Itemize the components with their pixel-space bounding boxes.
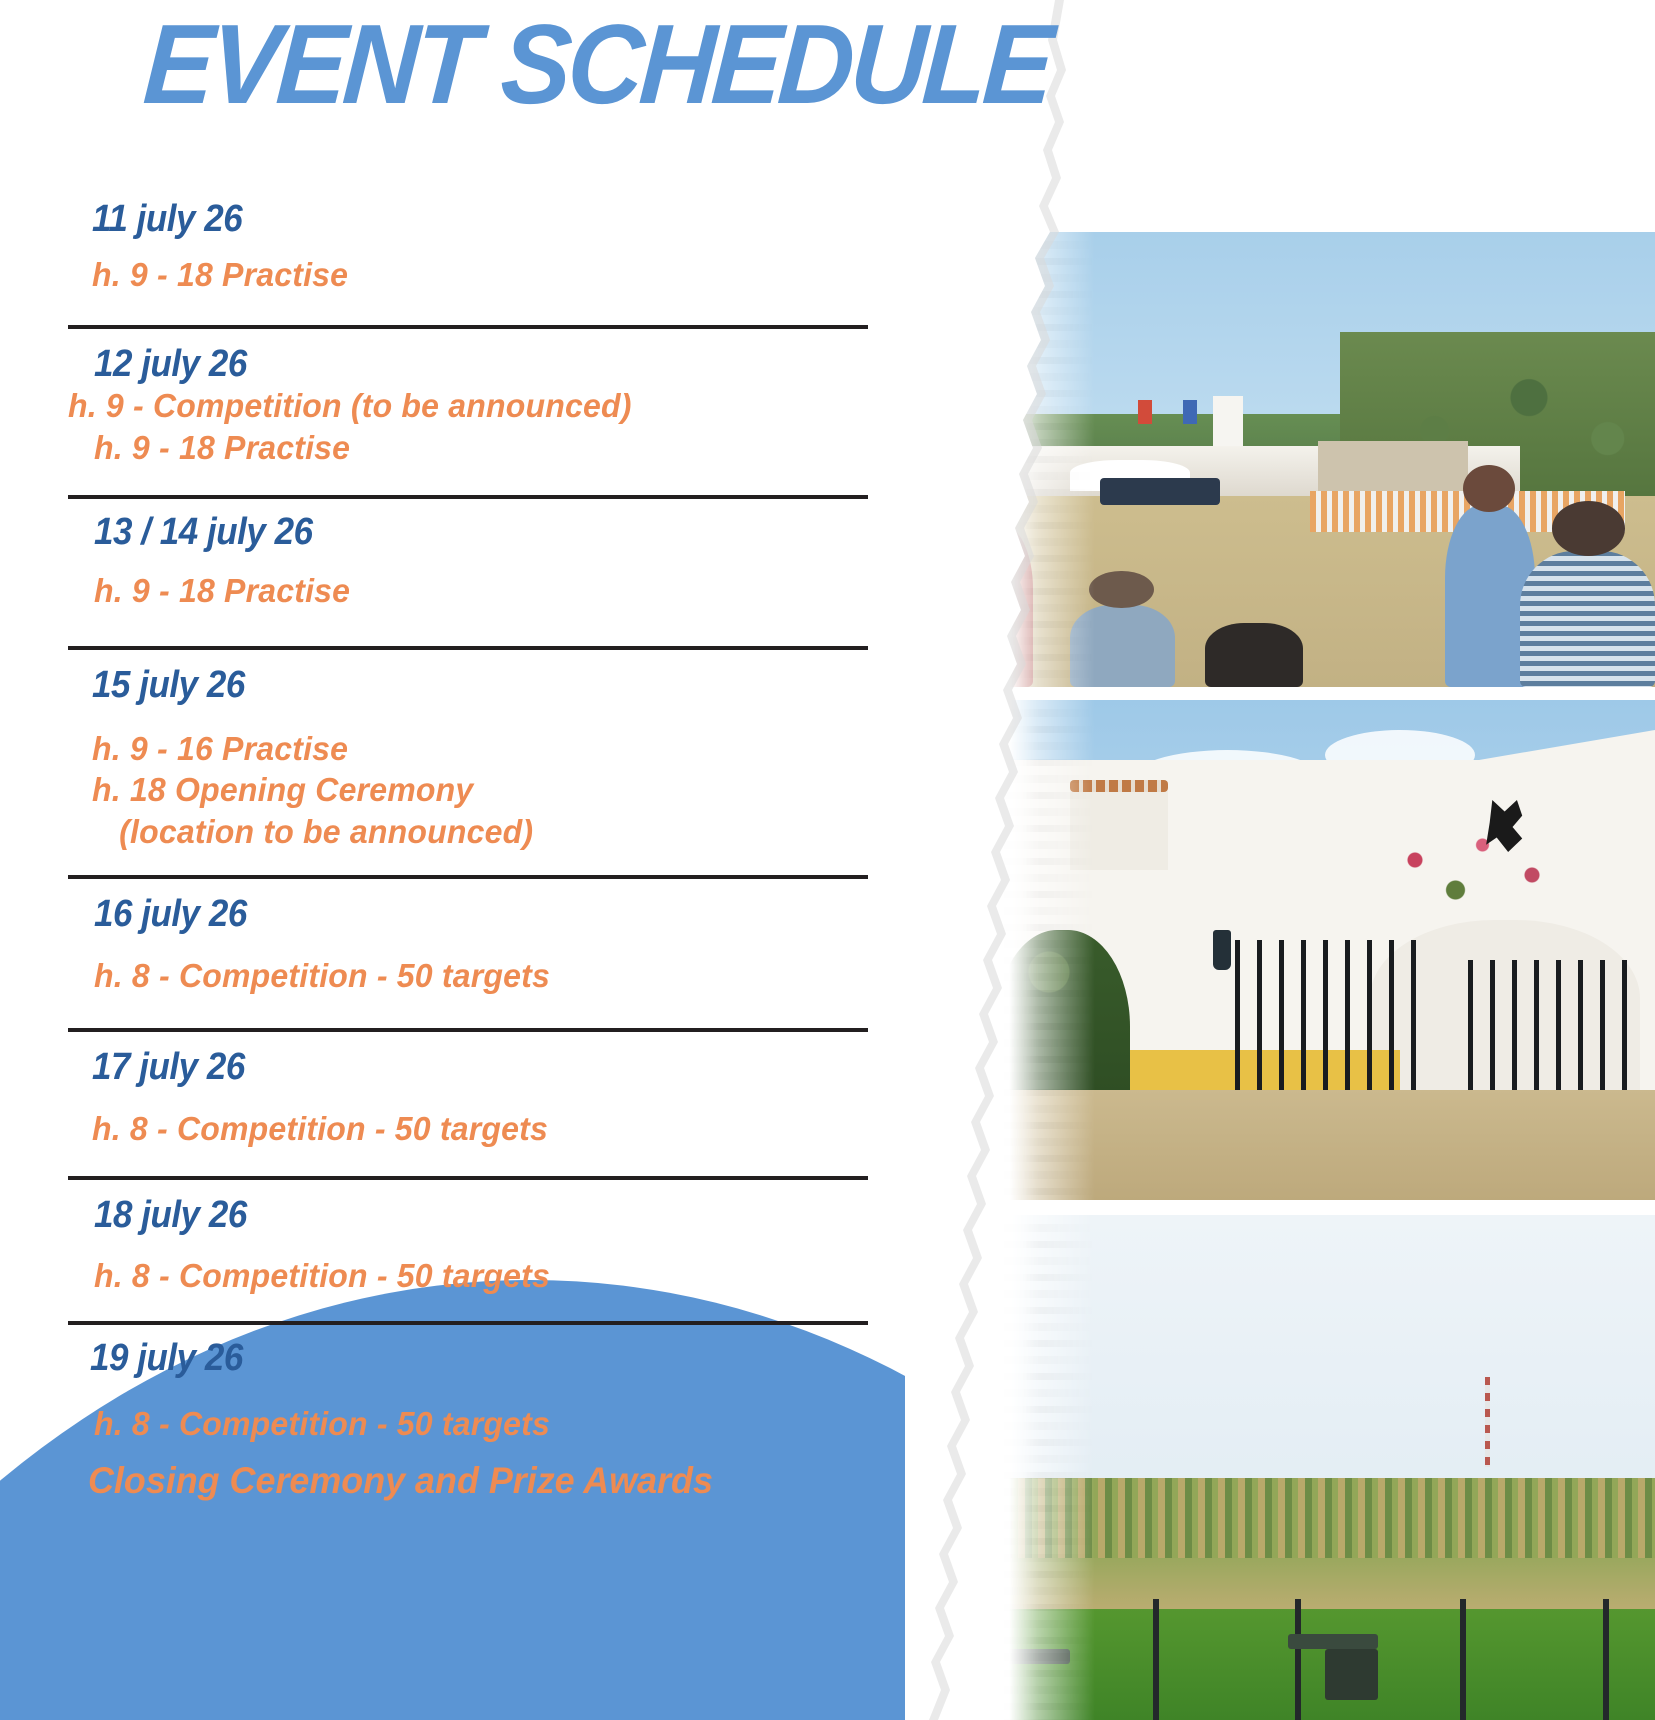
entry-event: h. 9 - 18 Practise: [94, 570, 845, 612]
schedule-entry: 16 july 26 h. 8 - Competition - 50 targe…: [68, 875, 868, 996]
page-title: EVENT SCHEDULE: [141, 8, 1054, 121]
fence-post: [1460, 1599, 1466, 1720]
spectator: [1205, 623, 1303, 687]
entry-date: 17 july 26: [92, 1048, 806, 1088]
entry-event-note: (location to be announced): [92, 811, 845, 853]
entry-event-closing: Closing Ceremony and Prize Awards: [88, 1458, 845, 1505]
schedule-entry: 18 july 26 h. 8 - Competition - 50 targe…: [68, 1176, 868, 1297]
entry-event: h. 9 - 18 Practise: [92, 254, 845, 296]
spectator: [1520, 551, 1655, 688]
entry-event: h. 18 Opening Ceremony: [92, 769, 845, 811]
entry-event: h. 8 - Competition - 50 targets: [94, 955, 845, 997]
schedule-list: 11 july 26 h. 9 - 18 Practise 12 july 26…: [68, 196, 868, 1505]
schedule-entry: 19 july 26 h. 8 - Competition - 50 targe…: [68, 1321, 868, 1505]
entry-event: h. 9 - Competition (to be announced): [68, 385, 844, 427]
wall-lantern: [1213, 930, 1231, 970]
outbuilding: [1318, 441, 1468, 496]
schedule-entry: 12 july 26 h. 9 - Competition (to be ann…: [68, 325, 868, 468]
entry-date: 18 july 26: [94, 1196, 806, 1236]
entry-event: h. 9 - 16 Practise: [92, 728, 845, 770]
entry-date: 13 / 14 july 26: [94, 513, 806, 553]
entry-date: 16 july 26: [94, 895, 806, 935]
climbing-flowers: [1370, 820, 1595, 920]
schedule-entry: 17 july 26 h. 8 - Competition - 50 targe…: [68, 1028, 868, 1149]
entry-event: h. 8 - Competition - 50 targets: [94, 1403, 845, 1445]
poster-canvas: EVENT SCHEDULE 11 july 26 h. 9 - 18 Prac…: [0, 0, 1655, 1720]
schedule-entry: 13 / 14 july 26 h. 9 - 18 Practise: [68, 495, 868, 612]
fence-post: [1603, 1599, 1609, 1720]
entry-date: 19 july 26: [90, 1339, 806, 1379]
entry-date: 12 july 26: [94, 345, 806, 385]
entry-date: 11 july 26: [92, 200, 806, 240]
schedule-entry: 15 july 26 h. 9 - 16 Practise h. 18 Open…: [68, 646, 868, 853]
photo-collage: [905, 0, 1655, 1720]
antenna-mast: [1485, 1377, 1490, 1468]
fence-post: [1295, 1599, 1301, 1720]
trap-house: [1325, 1649, 1378, 1700]
flag: [1183, 400, 1197, 424]
entry-event: h. 9 - 18 Practise: [94, 427, 845, 469]
entry-event: h. 8 - Competition - 50 targets: [92, 1108, 845, 1150]
entry-date: 15 july 26: [92, 666, 806, 706]
torn-paper-mask: [905, 0, 1165, 1720]
entry-event: h. 8 - Competition - 50 targets: [94, 1255, 845, 1297]
trap-house: [1288, 1634, 1378, 1649]
schedule-entry: 11 july 26 h. 9 - 18 Practise: [68, 200, 868, 295]
